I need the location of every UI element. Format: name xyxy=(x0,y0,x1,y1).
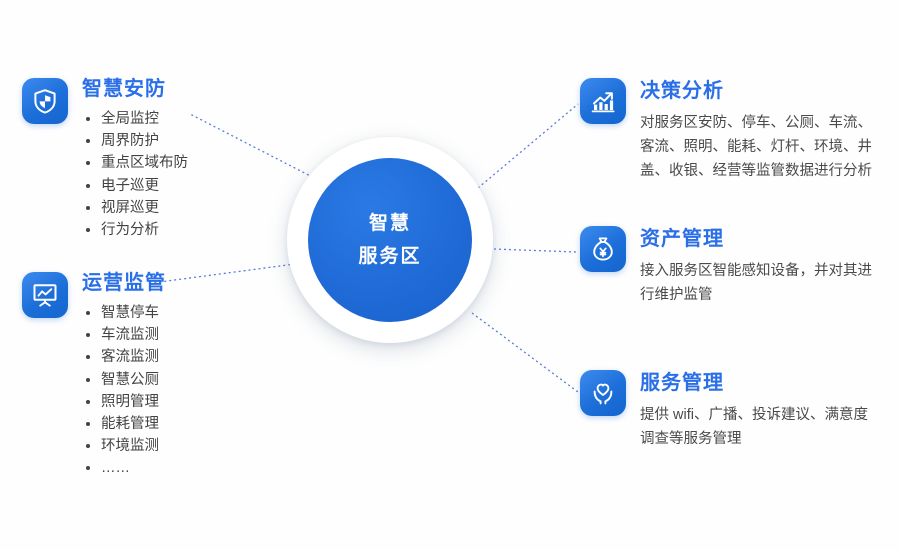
infographic-canvas: 智慧 服务区 智慧安防 全局监控 周界防护 重点区域布防 电子巡更 视屏巡更 行… xyxy=(0,0,900,550)
block-decision-body: 决策分析 对服务区安防、停车、公厕、车流、客流、照明、能耗、灯杆、环境、井盖、收… xyxy=(640,78,878,183)
list-item: 照明管理 xyxy=(82,391,166,413)
block-security: 智慧安防 全局监控 周界防护 重点区域布防 电子巡更 视屏巡更 行为分析 xyxy=(22,78,188,241)
presentation-chart-icon xyxy=(22,272,68,318)
shield-icon xyxy=(22,78,68,124)
list-item: 车流监测 xyxy=(82,324,166,346)
list-item: 视屏巡更 xyxy=(82,197,188,219)
list-item: 周界防护 xyxy=(82,130,188,152)
hub-title-line2: 服务区 xyxy=(358,240,421,273)
block-asset: 资产管理 接入服务区智能感知设备，并对其进行维护监管 xyxy=(580,226,878,307)
list-item: 客流监测 xyxy=(82,346,166,368)
bar-chart-arrow-icon xyxy=(580,78,626,124)
block-asset-title: 资产管理 xyxy=(640,228,878,251)
block-operation-title: 运营监管 xyxy=(82,272,166,295)
list-item: 环境监测 xyxy=(82,435,166,457)
block-decision-title: 决策分析 xyxy=(640,80,878,103)
list-item: 电子巡更 xyxy=(82,175,188,197)
block-security-bullets: 全局监控 周界防护 重点区域布防 电子巡更 视屏巡更 行为分析 xyxy=(82,108,188,241)
heart-hands-icon xyxy=(580,370,626,416)
list-item: 全局监控 xyxy=(82,108,188,130)
connector-hub-to-asset xyxy=(494,249,576,252)
block-service-description: 提供 wifi、广播、投诉建议、满意度调查等服务管理 xyxy=(640,403,878,451)
hub-title-line1: 智慧 xyxy=(369,207,411,240)
block-operation: 运营监管 智慧停车 车流监测 客流监测 智慧公厕 照明管理 能耗管理 环境监测 … xyxy=(22,272,166,480)
connector-hub-to-decision xyxy=(478,104,578,188)
block-service: 服务管理 提供 wifi、广播、投诉建议、满意度调查等服务管理 xyxy=(580,370,878,451)
block-operation-bullets: 智慧停车 车流监测 客流监测 智慧公厕 照明管理 能耗管理 环境监测 …… xyxy=(82,302,166,480)
block-asset-body: 资产管理 接入服务区智能感知设备，并对其进行维护监管 xyxy=(640,226,878,307)
block-service-title: 服务管理 xyxy=(640,372,878,395)
block-security-body: 智慧安防 全局监控 周界防护 重点区域布防 电子巡更 视屏巡更 行为分析 xyxy=(82,78,188,241)
block-decision-description: 对服务区安防、停车、公厕、车流、客流、照明、能耗、灯杆、环境、井盖、收银、经营等… xyxy=(640,111,878,183)
block-service-body: 服务管理 提供 wifi、广播、投诉建议、满意度调查等服务管理 xyxy=(640,370,878,451)
block-operation-body: 运营监管 智慧停车 车流监测 客流监测 智慧公厕 照明管理 能耗管理 环境监测 … xyxy=(82,272,166,480)
list-item: 重点区域布防 xyxy=(82,152,188,174)
block-security-title: 智慧安防 xyxy=(82,78,188,101)
list-item: …… xyxy=(82,457,166,479)
list-item: 智慧公厕 xyxy=(82,369,166,391)
central-hub: 智慧 服务区 xyxy=(287,137,493,343)
list-item: 行为分析 xyxy=(82,219,188,241)
block-decision: 决策分析 对服务区安防、停车、公厕、车流、客流、照明、能耗、灯杆、环境、井盖、收… xyxy=(580,78,878,183)
money-bag-icon xyxy=(580,226,626,272)
hub-core-circle: 智慧 服务区 xyxy=(308,158,472,322)
list-item: 智慧停车 xyxy=(82,302,166,324)
list-item: 能耗管理 xyxy=(82,413,166,435)
block-asset-description: 接入服务区智能感知设备，并对其进行维护监管 xyxy=(640,259,878,307)
